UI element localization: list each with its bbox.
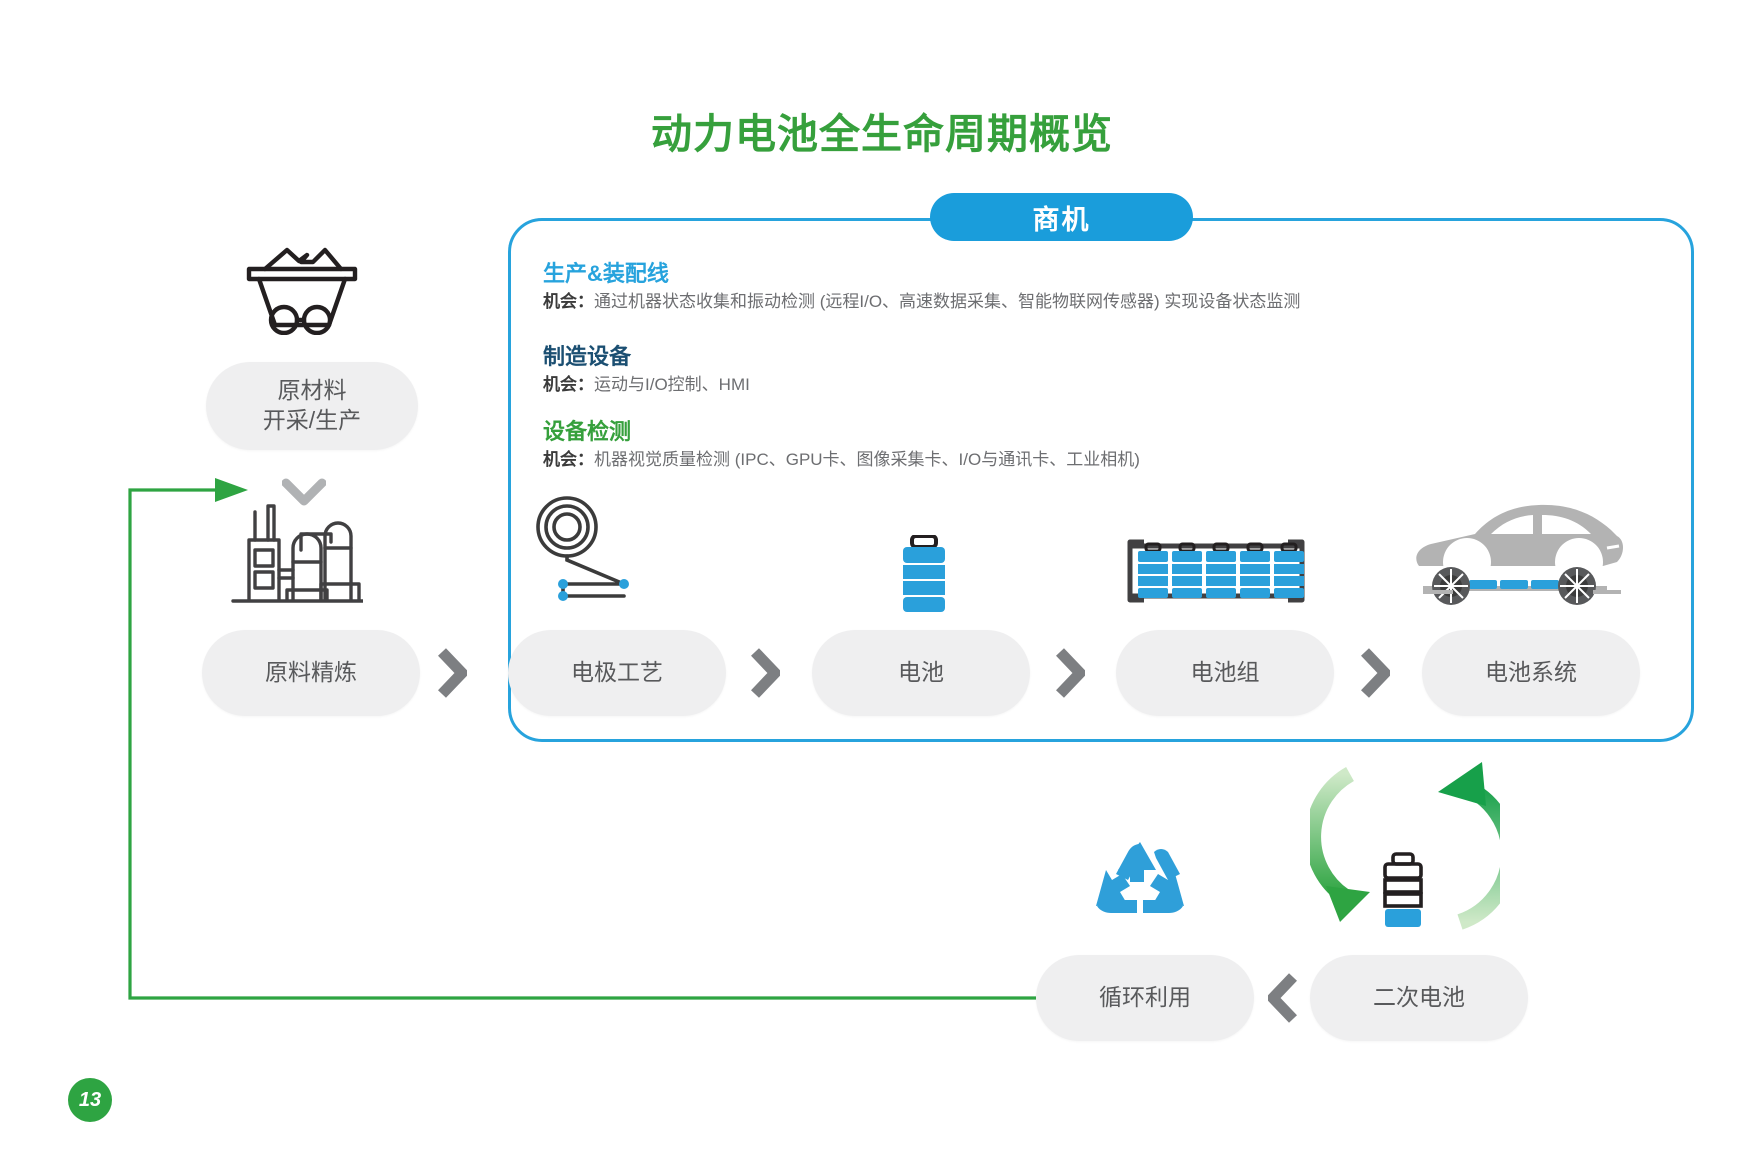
circular-arrows-icon: [1310, 756, 1500, 947]
chevron-right-icon: [750, 648, 780, 698]
page-title: 动力电池全生命周期概览: [0, 100, 1764, 160]
opportunity-body-text: 运动与I/O控制、HMI: [594, 375, 750, 394]
opportunity-badge: 商机: [930, 193, 1193, 241]
battery-cell-icon: [898, 535, 950, 618]
opportunity-body-text: 机器视觉质量检测 (IPC、GPU卡、图像采集卡、I/O与通讯卡、工业相机): [594, 450, 1140, 469]
stage-label: 电池组: [1191, 658, 1260, 688]
stage-label: 原材料 开采/生产: [263, 376, 361, 436]
opportunity-body-label: 机会：: [543, 450, 594, 469]
opportunity-heading: 制造设备: [543, 345, 750, 369]
stage-label: 电极工艺: [571, 658, 663, 688]
chevron-right-icon: [1055, 648, 1085, 698]
stage-second-life[interactable]: 二次电池: [1310, 955, 1528, 1041]
opportunity-body-label: 机会：: [543, 292, 594, 311]
stage-label: 二次电池: [1373, 983, 1465, 1013]
opportunity-body: 机会：通过机器状态收集和振动检测 (远程I/O、高速数据采集、智能物联网传感器)…: [543, 292, 1300, 312]
page-number-badge: 13: [68, 1078, 112, 1122]
battery-pack-icon: [1124, 538, 1308, 609]
chevron-right-icon: [1360, 648, 1390, 698]
electric-car-icon: [1403, 492, 1627, 613]
stage-label: 电池系统: [1485, 658, 1577, 688]
down-arrow-icon: [282, 477, 326, 514]
opportunity-heading: 生产&装配线: [543, 262, 1300, 286]
opportunity-block-manufacturing-equipment: 制造设备 机会：运动与I/O控制、HMI: [543, 345, 750, 396]
recycle-icon: [1094, 840, 1186, 931]
chevron-right-icon: [437, 648, 467, 698]
chevron-left-icon: [1268, 973, 1298, 1023]
opportunity-heading: 设备检测: [543, 420, 1140, 444]
opportunity-block-production: 生产&装配线 机会：通过机器状态收集和振动检测 (远程I/O、高速数据采集、智能…: [543, 262, 1300, 313]
stage-refining[interactable]: 原料精炼: [202, 630, 420, 716]
stage-label: 循环利用: [1099, 983, 1191, 1013]
refinery-plant-icon: [213, 500, 363, 613]
stage-battery-system[interactable]: 电池系统: [1422, 630, 1640, 716]
opportunity-body: 机会：运动与I/O控制、HMI: [543, 375, 750, 395]
stage-label-line1: 原材料: [277, 377, 346, 403]
opportunity-block-inspection: 设备检测 机会：机器视觉质量检测 (IPC、GPU卡、图像采集卡、I/O与通讯卡…: [543, 420, 1140, 471]
stage-electrode-process[interactable]: 电极工艺: [508, 630, 726, 716]
opportunity-body: 机会：机器视觉质量检测 (IPC、GPU卡、图像采集卡、I/O与通讯卡、工业相机…: [543, 450, 1140, 470]
stage-label: 电池: [898, 658, 944, 688]
stage-recycling[interactable]: 循环利用: [1036, 955, 1254, 1041]
stage-label-line2: 开采/生产: [263, 407, 361, 433]
stage-battery-module[interactable]: 电池组: [1116, 630, 1334, 716]
mining-cart-icon: [243, 231, 361, 340]
electrode-roll-icon: [530, 496, 636, 613]
opportunity-body-label: 机会：: [543, 375, 594, 394]
stage-battery-cell[interactable]: 电池: [812, 630, 1030, 716]
stage-raw-material[interactable]: 原材料 开采/生产: [206, 362, 418, 450]
stage-label: 原料精炼: [265, 658, 357, 688]
opportunity-body-text: 通过机器状态收集和振动检测 (远程I/O、高速数据采集、智能物联网传感器) 实现…: [594, 292, 1300, 311]
